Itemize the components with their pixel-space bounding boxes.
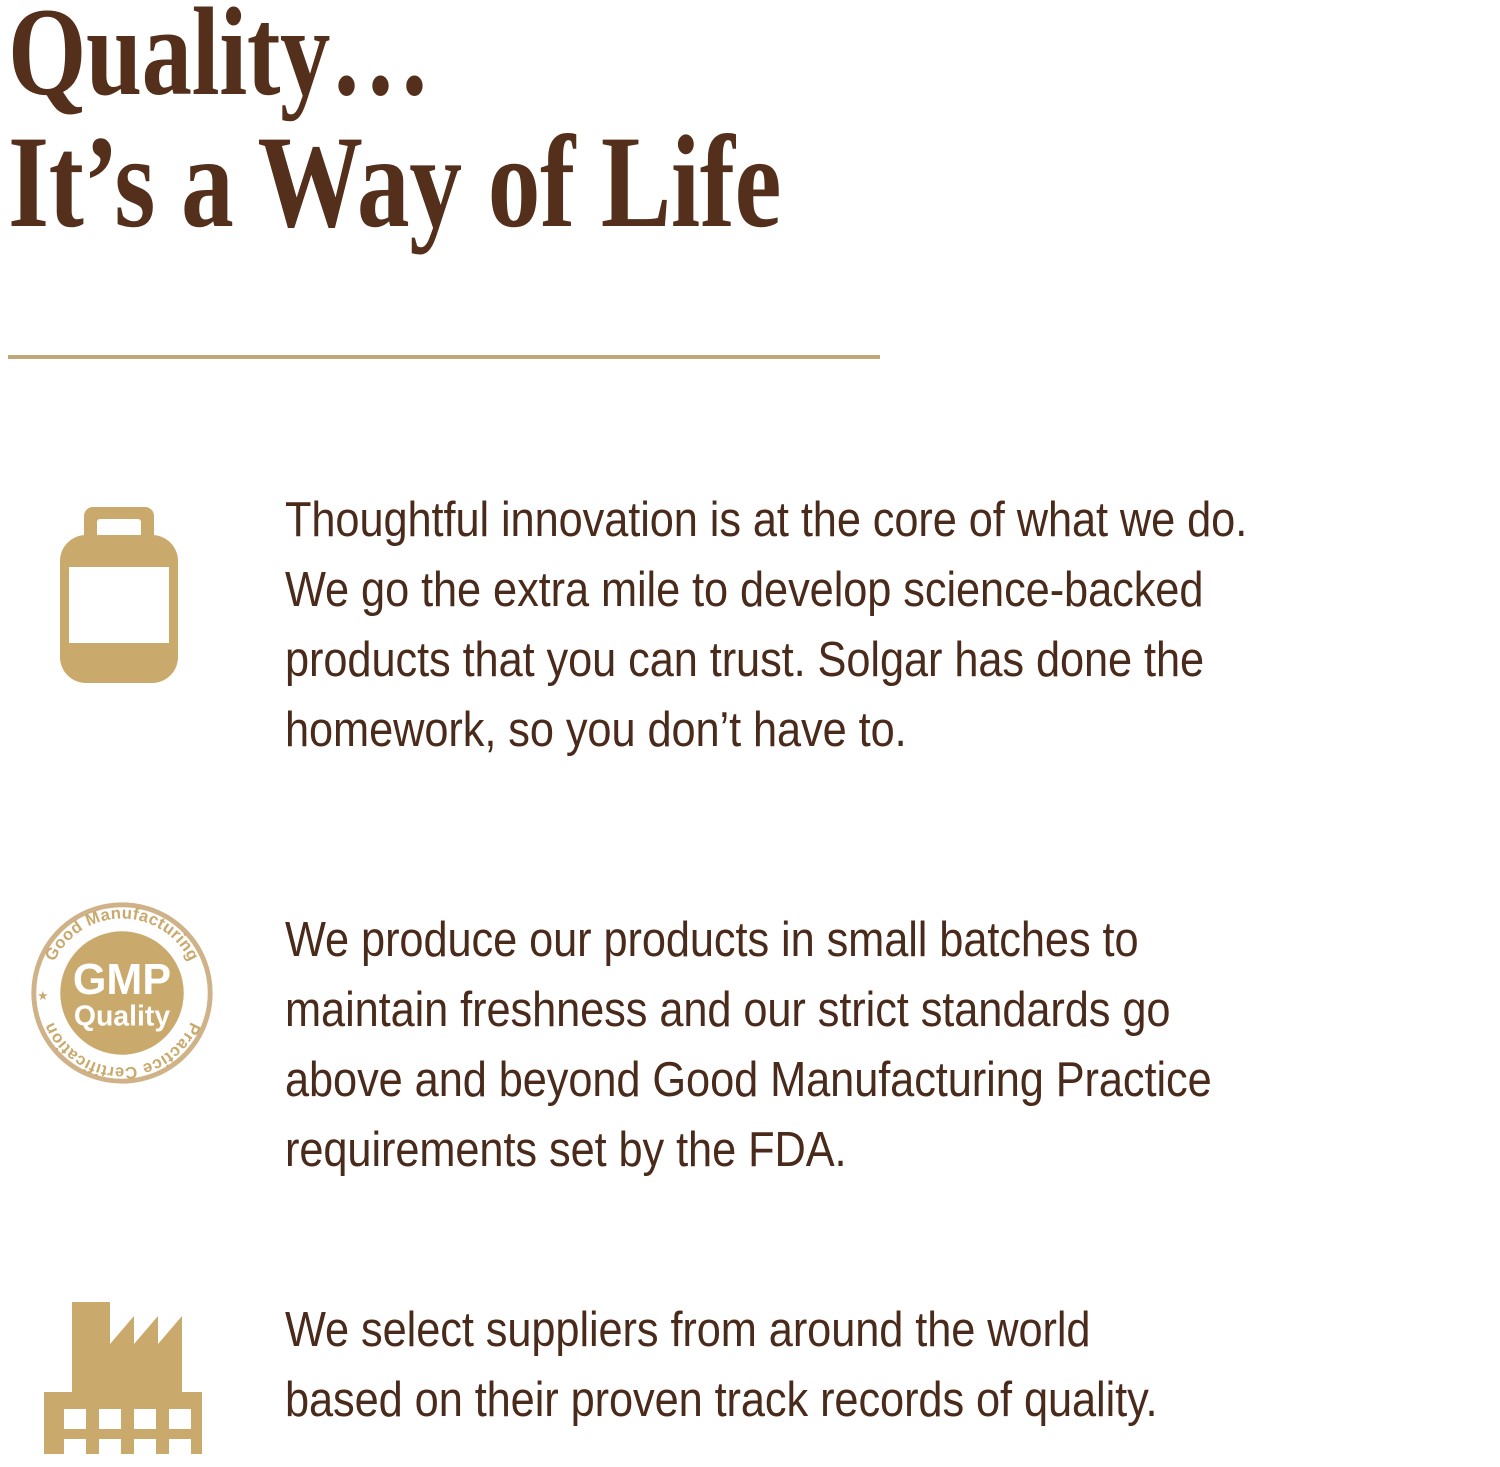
page-title-line-2: It’s a Way of Life [8,120,968,244]
feature-text-cell: We produce our products in small batches… [285,905,1500,1185]
feature-paragraph: Thoughtful innovation is at the core of … [285,485,1356,765]
factory-icon [44,1299,202,1454]
gmp-center-title: GMP [73,956,171,1004]
gmp-center-subtitle: Quality [74,1000,170,1032]
gmp-star-left-icon: ★ [37,988,48,1003]
supplement-bottle-icon [60,505,178,683]
feature-text-cell: Thoughtful innovation is at the core of … [285,485,1500,765]
feature-icon-cell [0,485,285,683]
feature-icon-cell [0,1295,285,1454]
feature-paragraph: We produce our products in small batches… [285,905,1356,1185]
feature-text-cell: We select suppliers from around the worl… [285,1295,1500,1435]
feature-row-gmp: Good Manufacturing Practice Certificatio… [0,905,1500,1185]
feature-icon-cell: Good Manufacturing Practice Certificatio… [0,905,285,1091]
feature-row-suppliers: We select suppliers from around the worl… [0,1295,1500,1454]
header-divider [8,355,880,359]
gmp-quality-seal-icon: Good Manufacturing Practice Certificatio… [24,895,220,1091]
feature-paragraph: We select suppliers from around the worl… [285,1295,1356,1435]
page-header: Quality… It’s a Way of Life [8,0,1208,244]
feature-row-innovation: Thoughtful innovation is at the core of … [0,485,1500,765]
page-title-line-1: Quality… [8,0,968,112]
